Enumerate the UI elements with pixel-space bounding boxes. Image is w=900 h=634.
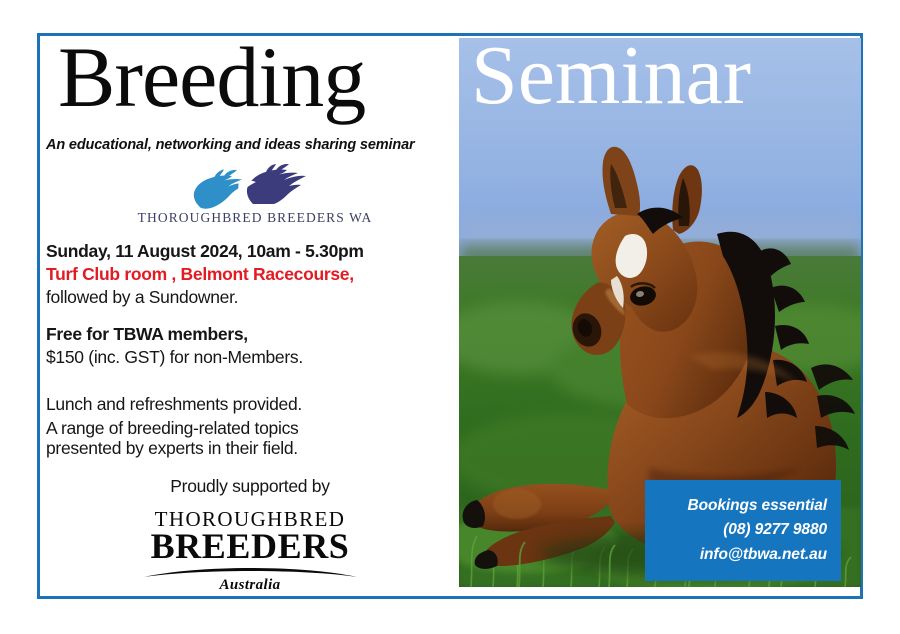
left-content-column: Breeding An educational, networking and … (40, 36, 460, 596)
subtitle: An educational, networking and ideas sha… (46, 137, 414, 153)
topics-line-2: presented by experts in their field. (46, 438, 298, 459)
page-title-seminar: Seminar (471, 38, 751, 118)
tba-logo-line-2: BREEDERS (110, 528, 390, 564)
event-venue-line: Turf Club room , Belmont Racecourse, (46, 264, 354, 285)
thoroughbred-breeders-wa-logo: THOROUGHBRED BREEDERS WA (135, 164, 375, 232)
tba-logo-line-3: Australia (110, 577, 390, 594)
bookings-essential-label: Bookings essential (645, 494, 827, 518)
tbwa-logo-text: THOROUGHBRED BREEDERS WA (135, 210, 375, 226)
event-sundowner-line: followed by a Sundowner. (46, 287, 238, 308)
bookings-phone[interactable]: (08) 9277 9880 (645, 518, 827, 542)
price-line: $150 (inc. GST) for non-Members. (46, 347, 303, 368)
proudly-supported-by-label: Proudly supported by (40, 476, 460, 497)
flyer-frame: Breeding An educational, networking and … (37, 33, 863, 599)
thoroughbred-breeders-australia-logo: THOROUGHBRED BREEDERS Australia (110, 509, 390, 595)
page-title-breeding: Breeding (58, 34, 365, 120)
foal-lying-in-grass-photo: Seminar Bookings essential (08) 9277 988… (459, 38, 861, 587)
bookings-info-box[interactable]: Bookings essential (08) 9277 9880 info@t… (645, 480, 841, 581)
horse-heads-icon (135, 164, 375, 212)
topics-line-1: A range of breeding-related topics (46, 418, 298, 439)
lunch-line: Lunch and refreshments provided. (46, 394, 302, 415)
bookings-email[interactable]: info@tbwa.net.au (645, 543, 827, 567)
event-date-line: Sunday, 11 August 2024, 10am - 5.30pm (46, 241, 364, 262)
members-free-line: Free for TBWA members, (46, 324, 248, 345)
